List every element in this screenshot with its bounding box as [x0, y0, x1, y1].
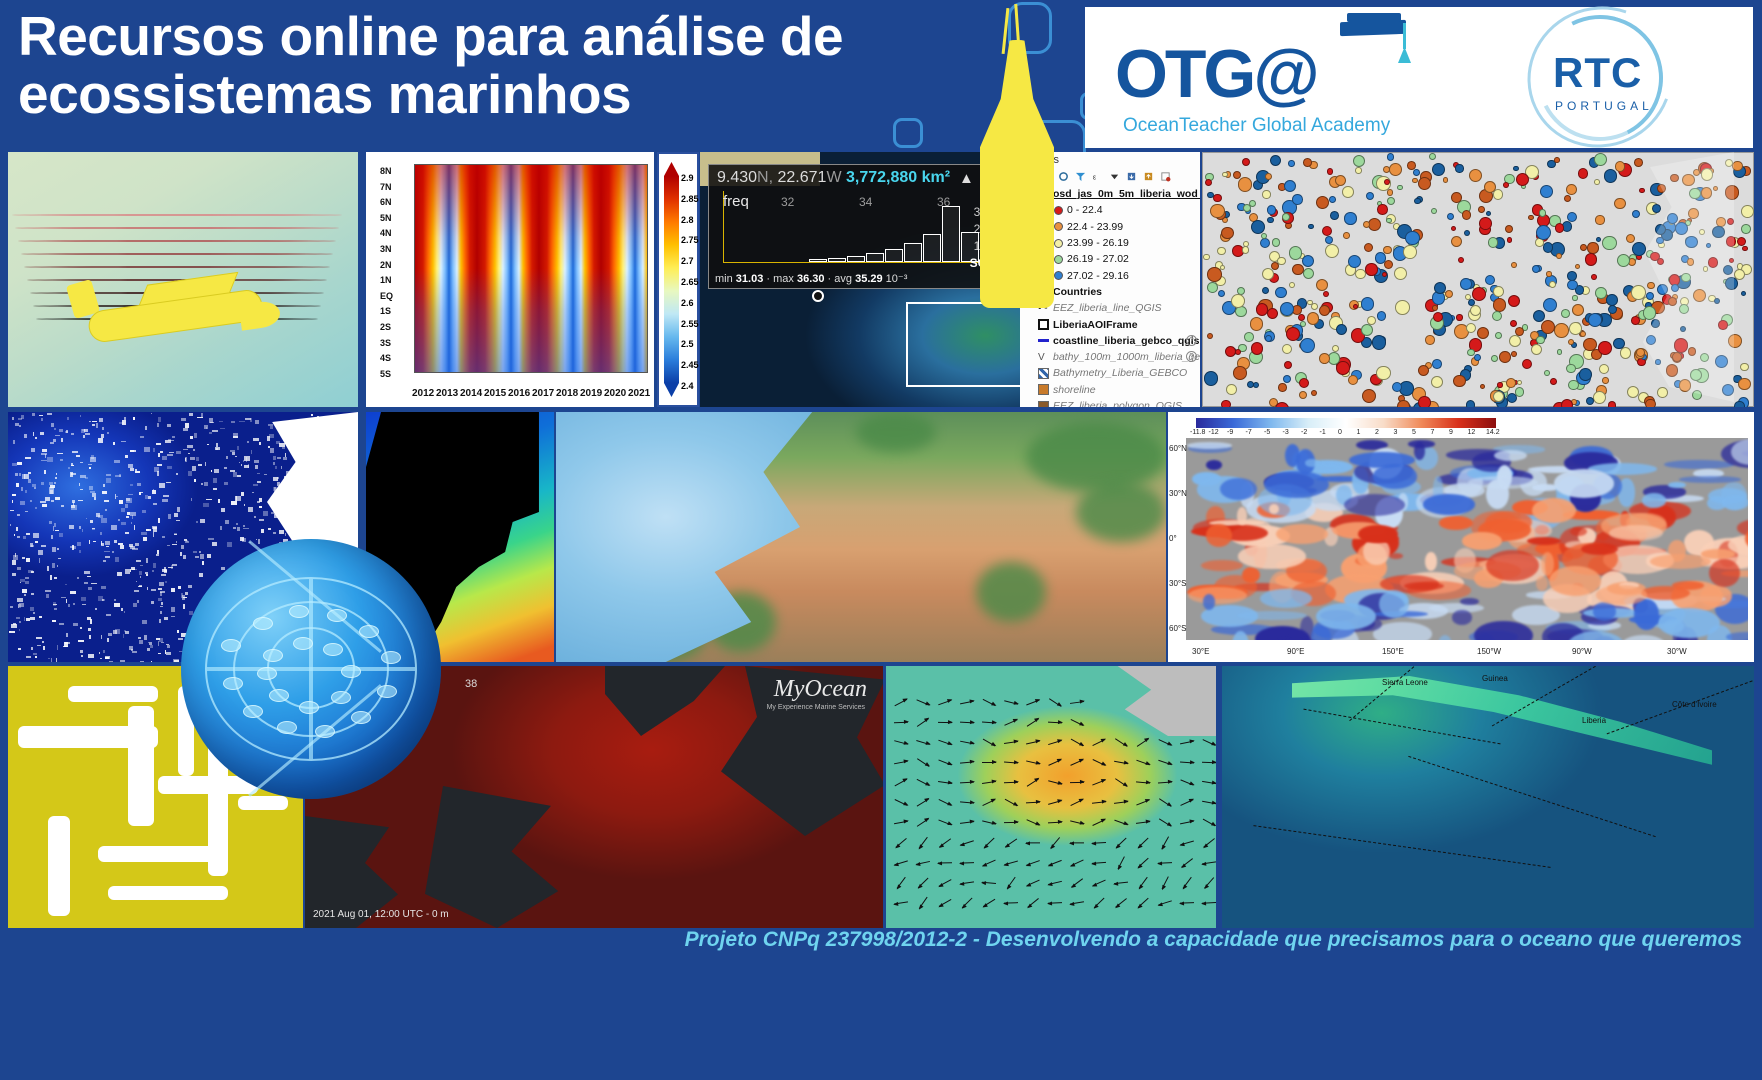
hovmoller-y-tick: 3S: [380, 338, 391, 348]
scatter-point: [1741, 224, 1751, 234]
anomaly-blob: [1389, 553, 1403, 559]
cloud-speck: [196, 457, 199, 461]
cloud-speck: [22, 557, 25, 559]
cloud-speck: [127, 512, 129, 515]
cloud-speck: [101, 586, 106, 589]
minimize-icon[interactable]: ▲: [959, 170, 974, 187]
qgis-layer-label: osd_jas_0m_5m_liberia_wod_odv: [1053, 188, 1200, 200]
panel-global-anomaly: -11.8-12-9-7-5-3-2-101235791214.2 60°N30…: [1168, 412, 1754, 662]
cloud-speck: [54, 482, 56, 484]
cloud-speck: [268, 528, 271, 530]
cloud-speck: [50, 442, 54, 444]
hovmoller-x-tick: 2015: [484, 388, 506, 399]
cloud-speck: [165, 581, 168, 583]
scatter-point: [1280, 302, 1294, 316]
cloud-speck: [17, 462, 22, 465]
cloud-speck: [163, 495, 168, 497]
global-colorbar-tick: -12: [1209, 429, 1219, 436]
cloud-speck: [50, 575, 52, 580]
qgis-layer-row[interactable]: Bathymetry_Liberia_GEBCO: [1022, 365, 1200, 381]
cloud-speck: [95, 608, 98, 610]
odv-station-marker[interactable]: [812, 290, 824, 302]
cloud-speck: [224, 467, 227, 469]
chevron-down-icon[interactable]: [1109, 171, 1120, 182]
cloud-speck: [188, 453, 190, 454]
anomaly-blob: [1316, 603, 1376, 630]
cloud-speck: [204, 425, 208, 429]
cloud-speck: [35, 437, 37, 439]
odv-selection-box[interactable]: [906, 302, 1026, 387]
scatter-point: [1506, 378, 1516, 388]
scatter-point: [1282, 213, 1290, 221]
cloud-speck: [89, 421, 90, 422]
cloud-speck: [124, 611, 125, 613]
cloud-speck: [145, 495, 148, 499]
sphere-node: [277, 721, 297, 734]
global-colorbar-tick: 2: [1375, 429, 1379, 436]
cloud-speck: [103, 560, 106, 563]
scatter-point: [1572, 304, 1584, 316]
scatter-point: [1479, 217, 1492, 230]
scatter-point: [1330, 211, 1339, 220]
cloud-speck: [136, 581, 137, 582]
scatter-point: [1403, 245, 1417, 259]
cloud-speck: [147, 587, 149, 590]
scatter-point: [1505, 225, 1513, 233]
hovmoller-x-tick: 2018: [556, 388, 578, 399]
cloud-speck: [140, 565, 143, 566]
graduation-cap-icon: [1340, 20, 1406, 36]
cloud-speck: [162, 536, 165, 537]
qgis-layer-label: 26.19 - 27.02: [1067, 253, 1129, 265]
qgis-layer-label: shoreline: [1053, 384, 1096, 396]
cloud-speck: [89, 635, 91, 639]
scatter-point: [1614, 198, 1625, 209]
scatter-point: [1355, 269, 1366, 280]
cloud-speck: [76, 455, 80, 456]
cloud-speck: [9, 631, 15, 633]
anomaly-blob: [1549, 566, 1601, 595]
cloud-speck: [51, 423, 54, 427]
cloud-speck: [28, 472, 30, 475]
scatter-point: [1233, 366, 1247, 380]
global-x-tick: 90°E: [1287, 647, 1304, 656]
panel-current-vectors: [886, 666, 1216, 928]
scatter-point: [1536, 225, 1551, 240]
cloud-speck: [25, 490, 28, 493]
cloud-speck: [208, 538, 214, 540]
scatter-point: [1235, 349, 1241, 355]
cloud-speck: [87, 576, 91, 577]
cloud-speck: [209, 432, 213, 434]
cloud-speck: [106, 474, 111, 476]
scatter-point: [1429, 153, 1436, 160]
anomaly-blob: [1536, 576, 1548, 591]
cloud-speck: [164, 617, 168, 620]
cloud-speck: [206, 499, 212, 500]
scatter-point: [1566, 184, 1577, 195]
cloud-speck: [73, 623, 77, 626]
cloud-speck: [153, 489, 154, 492]
scatter-point: [1226, 384, 1237, 395]
cloud-speck: [153, 448, 155, 452]
cloud-speck: [269, 434, 274, 438]
cloud-speck: [153, 503, 158, 505]
scatter-point: [1458, 257, 1464, 263]
scatter-point: [1377, 311, 1387, 321]
scatter-point: [1516, 173, 1529, 186]
cloud-speck: [105, 656, 109, 658]
cloud-speck: [58, 558, 61, 559]
cloud-speck: [241, 464, 242, 466]
myocean-logo-subtitle: My Experience Marine Services: [767, 704, 865, 711]
symbol-frame-icon: [1038, 319, 1049, 330]
cloud-speck: [41, 460, 46, 461]
cloud-speck: [171, 607, 175, 611]
cloud-speck: [237, 527, 239, 531]
hovmoller-x-tick: 2014: [460, 388, 482, 399]
cloud-speck: [66, 633, 67, 637]
qgis-layer-row[interactable]: EEZ_liberia_polygon_QGIS: [1022, 398, 1200, 407]
colorbar-tick: 2.55: [681, 319, 699, 329]
scatter-point: [1567, 212, 1577, 222]
cloud-speck: [237, 475, 240, 477]
scatter-point: [1472, 287, 1486, 301]
cloud-speck: [213, 488, 217, 490]
sphere-node: [327, 609, 347, 622]
odv-histogram-bar: [809, 259, 827, 262]
page-title: Recursos online para análise de ecossist…: [18, 8, 1078, 124]
scatter-point: [1466, 400, 1476, 407]
scatter-point: [1453, 375, 1465, 387]
cloud-speck: [167, 466, 172, 469]
symbol-line-icon: [1038, 339, 1049, 342]
cloud-speck: [273, 477, 279, 481]
cloud-speck: [139, 571, 142, 575]
cloud-speck: [176, 520, 180, 521]
cloud-speck: [32, 484, 36, 488]
scatter-point: [1383, 166, 1390, 173]
anomaly-blob: [1642, 493, 1666, 507]
cloud-speck: [133, 603, 136, 607]
graduation-cap-top-icon: [1347, 13, 1401, 22]
cloud-speck: [259, 442, 261, 445]
cloud-speck: [115, 494, 116, 499]
global-colorbar-tick: -11.8: [1190, 429, 1205, 436]
global-colorbar-tick: 1: [1357, 429, 1361, 436]
global-x-tick: 30°W: [1667, 647, 1687, 656]
cloud-speck: [102, 427, 104, 429]
cloud-speck: [157, 471, 159, 476]
scatter-point: [1593, 391, 1606, 404]
cloud-speck: [215, 447, 221, 450]
scatter-point: [1397, 400, 1410, 407]
cloud-speck: [51, 535, 54, 538]
cloud-speck: [131, 522, 132, 524]
scatter-point: [1243, 204, 1251, 212]
scatter-point: [1384, 260, 1393, 269]
cloud-speck: [12, 417, 14, 419]
cloud-speck: [106, 478, 110, 483]
scatter-point: [1372, 335, 1387, 350]
scatter-point: [1631, 285, 1646, 300]
cloud-speck: [154, 467, 159, 471]
country-label: Liberia: [1582, 716, 1606, 725]
cloud-speck: [121, 508, 126, 512]
cloud-speck: [101, 434, 104, 438]
cloud-speck: [80, 475, 86, 478]
filter-icon[interactable]: [1075, 171, 1086, 182]
cloud-speck: [108, 633, 111, 636]
cloud-speck: [251, 450, 252, 455]
cloud-speck: [142, 510, 145, 512]
cloud-speck: [19, 629, 20, 631]
scatter-point: [1566, 364, 1575, 373]
colorbar-top-arrow-icon: [664, 162, 679, 176]
scatter-point: [1594, 153, 1607, 166]
graduation-tassel-icon: [1403, 23, 1406, 49]
cloud-speck: [244, 504, 245, 507]
global-colorbar-tick: 12: [1468, 429, 1476, 436]
scatter-point: [1251, 342, 1264, 355]
cloud-speck: [177, 507, 181, 512]
global-y-tick: 60°N: [1169, 444, 1187, 453]
global-colorbar-tick: -3: [1283, 429, 1289, 436]
odv-axis-label: freq: [723, 193, 749, 210]
cloud-speck: [24, 434, 27, 438]
cloud-speck: [115, 557, 120, 562]
water-branch: [108, 886, 228, 900]
cloud-speck: [158, 588, 162, 590]
cloud-speck: [31, 448, 35, 452]
cloud-speck: [188, 471, 192, 476]
cloud-speck: [104, 551, 109, 552]
cloud-speck: [12, 573, 17, 576]
water-branch: [128, 706, 154, 826]
scatter-point: [1327, 168, 1334, 175]
scatter-point: [1507, 237, 1513, 243]
cloud-speck: [19, 425, 21, 427]
scatter-point: [1387, 153, 1394, 160]
scatter-point: [1615, 161, 1625, 171]
cloud-speck: [171, 440, 175, 441]
qgis-layer-label: EEZ_liberia_line_QGIS: [1053, 302, 1162, 314]
scatter-point: [1539, 209, 1546, 216]
current-arrow: [1070, 782, 1084, 784]
qgis-layer-row[interactable]: shoreline: [1022, 382, 1200, 398]
cloud-speck: [282, 447, 285, 449]
current-arrow: [894, 722, 908, 724]
cloud-speck: [114, 603, 119, 607]
cloud-speck: [88, 654, 94, 658]
cloud-speck: [203, 503, 209, 508]
scatter-point: [1550, 378, 1557, 385]
cloud-speck: [158, 417, 161, 422]
cloud-speck: [275, 466, 277, 469]
cloud-speck: [105, 541, 110, 545]
odv-histogram-dialog[interactable]: 9.430N, 22.671W 3,772,880 km² ▲ ✕ freq 3…: [708, 164, 1008, 289]
cloud-speck: [186, 540, 189, 543]
expression-icon[interactable]: ε: [1092, 171, 1103, 182]
cloud-speck: [243, 528, 249, 529]
cloud-speck: [162, 499, 167, 502]
cloud-speck: [107, 432, 109, 434]
cloud-speck: [173, 659, 178, 662]
cloud-speck: [125, 532, 129, 534]
sphere-node: [377, 685, 397, 698]
help-icon[interactable]: ?: [1186, 335, 1197, 346]
symbol-dot-icon: [1054, 222, 1063, 231]
water-branch: [68, 686, 158, 702]
expand-all-icon[interactable]: [1058, 171, 1069, 182]
scatter-point: [1432, 359, 1442, 369]
cloud-speck: [160, 451, 162, 453]
cloud-speck: [90, 520, 93, 523]
cloud-speck: [39, 616, 42, 617]
cloud-speck: [134, 590, 139, 592]
sphere-node: [323, 643, 343, 656]
colorbar-bottom-arrow-icon: [664, 383, 679, 397]
cloud-speck: [140, 661, 144, 662]
cloud-speck: [91, 583, 96, 584]
anomaly-blob: [1188, 587, 1247, 604]
scatter-point: [1251, 220, 1265, 234]
cloud-speck: [130, 512, 136, 516]
current-arrow: [1004, 822, 1018, 824]
cloud-speck: [16, 617, 20, 619]
cloud-speck: [255, 420, 259, 424]
expand-layers-icon[interactable]: [1143, 171, 1154, 182]
cloud-speck: [94, 497, 96, 500]
anomaly-blob: [1220, 478, 1257, 500]
odv-histogram-bar: [847, 256, 865, 262]
scatter-point: [1451, 192, 1462, 203]
cloud-speck: [88, 628, 91, 631]
cloud-speck: [135, 543, 139, 546]
cloud-speck: [55, 435, 59, 436]
scatter-point: [1602, 377, 1608, 383]
cloud-speck: [31, 593, 34, 595]
cloud-speck: [204, 482, 208, 486]
scatter-point: [1250, 317, 1264, 331]
cloud-speck: [116, 496, 118, 497]
cloud-speck: [263, 511, 267, 515]
scatter-point: [1643, 306, 1656, 319]
cloud-speck: [194, 433, 197, 437]
qgis-layer-row[interactable]: coastline_liberia_gebco_qgis: [1022, 333, 1200, 349]
cloud-speck: [259, 498, 262, 501]
odv-stats-readout: min 31.03 · max 36.30 · avg 35.29 10⁻³: [715, 272, 907, 285]
cloud-speck: [13, 623, 15, 625]
cloud-speck: [118, 519, 120, 521]
cloud-speck: [183, 604, 185, 609]
cloud-speck: [112, 551, 114, 553]
cloud-speck: [200, 554, 203, 559]
qgis-layer-label: LiberiaAOIFrame: [1053, 319, 1138, 331]
qgis-layer-row[interactable]: LiberiaAOIFrame: [1022, 316, 1200, 332]
cloud-speck: [101, 543, 105, 545]
cloud-speck: [119, 500, 122, 504]
scatter-point: [1262, 190, 1270, 198]
hovmoller-x-tick: 2013: [436, 388, 458, 399]
cloud-speck: [151, 601, 154, 604]
cloud-speck: [121, 608, 123, 611]
cloud-speck: [30, 607, 34, 610]
cloud-speck: [10, 510, 14, 511]
cloud-speck: [121, 522, 127, 525]
cloud-speck: [124, 630, 126, 632]
cloud-speck: [176, 451, 181, 454]
collapse-all-icon[interactable]: [1126, 171, 1137, 182]
scatter-point: [1217, 247, 1226, 256]
scatter-point: [1546, 271, 1551, 276]
cloud-speck: [121, 441, 126, 443]
scatter-point: [1598, 341, 1612, 355]
water-branch: [98, 846, 218, 862]
cloud-speck: [152, 526, 157, 529]
cloud-speck: [281, 466, 282, 469]
scatter-point: [1588, 313, 1602, 327]
cloud-speck: [13, 555, 19, 559]
cloud-speck: [210, 422, 214, 423]
cloud-speck: [158, 641, 160, 645]
scatter-point: [1540, 185, 1553, 198]
cloud-speck: [152, 570, 154, 572]
cloud-speck: [253, 438, 259, 441]
scatter-point: [1289, 282, 1295, 288]
cloud-speck: [99, 652, 101, 654]
current-arrow: [938, 862, 952, 864]
cloud-speck: [102, 491, 107, 494]
cloud-speck: [126, 516, 129, 519]
scatter-point: [1289, 246, 1302, 259]
help-icon[interactable]: ?: [1186, 351, 1197, 362]
cloud-speck: [213, 478, 216, 483]
cloud-speck: [20, 501, 26, 504]
anomaly-blob: [1379, 590, 1409, 618]
cloud-speck: [273, 462, 275, 465]
cloud-speck: [92, 528, 95, 529]
hovmoller-y-tick: 1N: [380, 275, 392, 285]
cloud-speck: [183, 555, 186, 559]
hovmoller-y-tick: 2N: [380, 260, 392, 270]
cloud-speck: [161, 642, 164, 643]
cloud-speck: [212, 430, 217, 432]
odv-histogram-bar: [923, 234, 941, 262]
scatter-point: [1608, 401, 1617, 407]
scatter-point: [1572, 295, 1577, 300]
hovmoller-y-tick: 8N: [380, 166, 392, 176]
anomaly-blob: [1187, 442, 1232, 449]
cloud-speck: [84, 571, 90, 574]
scatter-point: [1595, 215, 1604, 224]
remove-layer-icon[interactable]: [1160, 171, 1171, 182]
cloud-speck: [254, 516, 256, 518]
cloud-speck: [167, 424, 171, 428]
scatter-point: [1207, 267, 1222, 282]
cloud-speck: [14, 534, 15, 536]
cloud-speck: [254, 460, 259, 462]
cloud-speck: [70, 591, 76, 594]
cloud-speck: [233, 527, 235, 529]
cloud-speck: [136, 560, 142, 562]
cloud-speck: [69, 525, 74, 528]
cloud-speck: [113, 630, 117, 633]
footer-caption: Projeto CNPq 237998/2012-2 - Desenvolven…: [450, 928, 1750, 952]
cloud-speck: [137, 483, 142, 486]
cloud-speck: [52, 547, 56, 552]
qgis-layer-row[interactable]: Vbathy_100m_1000m_liberia_gebco: [1022, 349, 1200, 365]
